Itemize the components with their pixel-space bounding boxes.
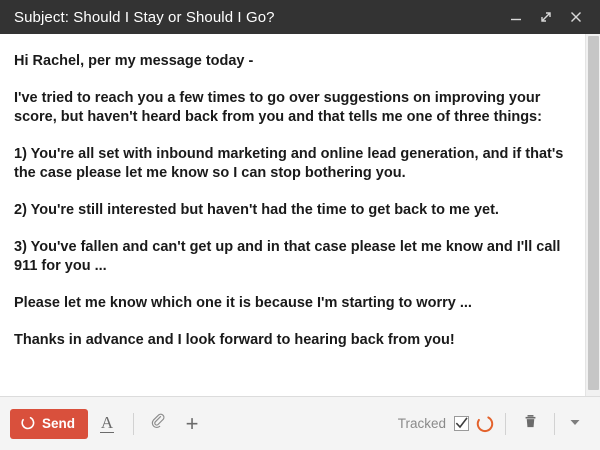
tracked-label: Tracked	[398, 416, 446, 431]
page-title: Subject: Should I Stay or Should I Go?	[14, 9, 508, 26]
trash-icon	[522, 413, 539, 435]
email-body-editor[interactable]: Hi Rachel, per my message today - I've t…	[0, 34, 600, 360]
underlined-a-icon: A	[100, 414, 114, 434]
message-paragraph: 3) You've fallen and can't get up and in…	[14, 238, 569, 276]
toolbar-right-group: Tracked	[398, 407, 588, 441]
attach-file-button[interactable]	[141, 407, 175, 441]
delete-draft-button[interactable]	[513, 407, 547, 441]
plus-icon: +	[186, 413, 199, 435]
insert-more-button[interactable]: +	[175, 407, 209, 441]
paperclip-icon	[149, 412, 167, 435]
tracking-ring-icon	[20, 415, 35, 433]
send-button[interactable]: Send	[10, 409, 88, 439]
close-icon[interactable]	[568, 9, 584, 25]
tracking-ring-icon[interactable]	[474, 414, 494, 434]
minimize-icon[interactable]	[508, 9, 524, 25]
scrollbar-thumb[interactable]	[588, 36, 599, 390]
message-paragraph: I've tried to reach you a few times to g…	[14, 89, 569, 127]
message-paragraph: Thanks in advance and I look forward to …	[14, 331, 569, 350]
message-paragraph: Hi Rachel, per my message today -	[14, 52, 569, 71]
message-paragraph: 1) You're all set with inbound marketing…	[14, 145, 569, 183]
toolbar-left-group: Send A +	[10, 407, 209, 441]
message-paragraph: 2) You're still interested but haven't h…	[14, 201, 569, 220]
text-format-button[interactable]: A	[88, 407, 126, 441]
compose-email-window: Subject: Should I Stay or Should I Go?	[0, 0, 600, 450]
tracked-checkbox[interactable]	[454, 416, 469, 431]
expand-icon[interactable]	[538, 9, 554, 25]
message-body-area: Hi Rachel, per my message today - I've t…	[0, 34, 600, 396]
toolbar-divider	[554, 413, 555, 435]
chevron-down-icon	[569, 415, 581, 433]
more-options-button[interactable]	[562, 411, 588, 437]
window-controls	[508, 9, 590, 25]
toolbar-divider	[505, 413, 506, 435]
vertical-scrollbar[interactable]	[585, 34, 600, 396]
send-button-label: Send	[42, 417, 75, 431]
message-paragraph: Please let me know which one it is becau…	[14, 294, 569, 313]
compose-toolbar: Send A + Tracked	[0, 396, 600, 450]
window-titlebar: Subject: Should I Stay or Should I Go?	[0, 0, 600, 34]
toolbar-divider	[133, 413, 134, 435]
